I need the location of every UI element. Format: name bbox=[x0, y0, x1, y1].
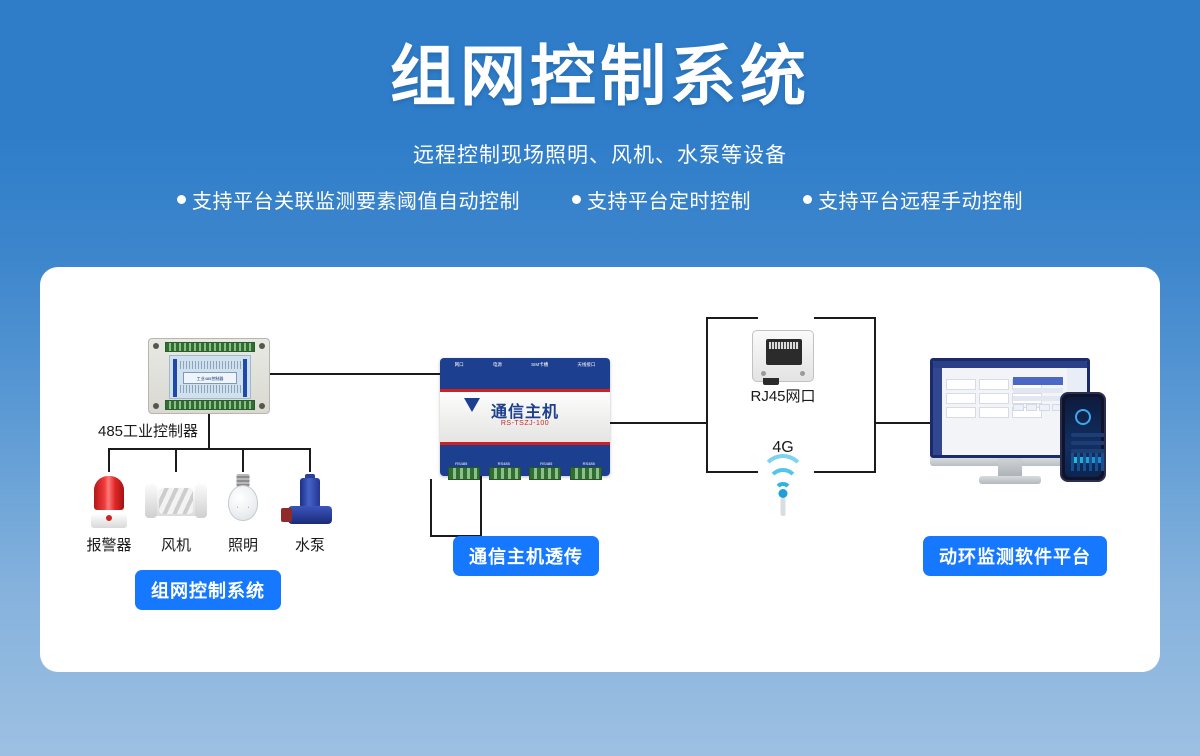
branch-to-4g-h bbox=[706, 471, 758, 473]
dashboard-card bbox=[946, 393, 976, 404]
screw-icon bbox=[153, 343, 159, 349]
phone-list-row bbox=[1071, 441, 1105, 445]
branch-left-v bbox=[706, 317, 708, 473]
feature-bullet-row: 支持平台关联监测要素阈值自动控制 支持平台定时控制 支持平台远程手动控制 bbox=[0, 185, 1200, 214]
host-terminal-ports bbox=[448, 467, 602, 480]
wifi-signal-icon bbox=[757, 458, 809, 506]
host-label-antenna: 天线接口 bbox=[577, 362, 595, 368]
485-industrial-controller-device: 工业485控制器 bbox=[148, 338, 270, 414]
fan-blades bbox=[159, 488, 193, 514]
bus-branch-fan bbox=[175, 448, 177, 472]
controller-caption: 485工业控制器 bbox=[88, 420, 208, 441]
link-host-bottom-v bbox=[430, 479, 432, 537]
rj45-screw-icon bbox=[800, 371, 805, 376]
host-top-panel: 网口 电源 SIM卡槽 天线接口 bbox=[440, 358, 610, 392]
bus-branch-alarm bbox=[108, 448, 110, 472]
field-device-light-label: 照明 bbox=[210, 534, 276, 555]
dialog-button bbox=[1013, 404, 1024, 411]
fan-icon bbox=[143, 472, 209, 530]
terminal-port bbox=[570, 467, 602, 480]
dialog-header bbox=[1013, 377, 1063, 385]
feature-bullet-3: 支持平台远程手动控制 bbox=[803, 185, 1023, 214]
4g-to-right-h bbox=[814, 471, 876, 473]
bus-branch-light bbox=[242, 448, 244, 472]
phone-chart bbox=[1071, 453, 1105, 471]
terminal-port bbox=[448, 467, 480, 480]
controller-board-label: 工业485控制器 bbox=[183, 372, 237, 384]
terminal-block-top bbox=[165, 342, 255, 352]
host-label-ethernet: 网口 bbox=[455, 362, 464, 368]
screw-icon bbox=[259, 343, 265, 349]
monitor-base bbox=[979, 476, 1041, 484]
light-bulb-icon bbox=[210, 472, 276, 530]
dashboard-topbar bbox=[933, 361, 1087, 368]
field-device-pump: 水泵 bbox=[277, 472, 343, 555]
water-pump-icon bbox=[277, 472, 343, 530]
dashboard-card bbox=[946, 407, 976, 418]
dashboard-card bbox=[946, 379, 976, 390]
rj45-pins bbox=[769, 342, 799, 349]
badge-networked-control-system: 组网控制系统 bbox=[135, 570, 281, 610]
badge-host-transparent-transmission: 通信主机透传 bbox=[453, 536, 599, 576]
dialog-field bbox=[1013, 396, 1063, 401]
branch-to-rj45-h bbox=[706, 317, 758, 319]
bullet-dot-icon bbox=[177, 195, 186, 204]
feature-bullet-1-label: 支持平台关联监测要素阈值自动控制 bbox=[192, 185, 520, 214]
rj45-tab bbox=[763, 378, 779, 385]
badge-monitoring-software-platform: 动环监测软件平台 bbox=[923, 536, 1107, 576]
alarm-dome bbox=[94, 476, 124, 510]
dialog-button bbox=[1026, 404, 1037, 411]
dashboard-card bbox=[979, 393, 1009, 404]
feature-bullet-3-label: 支持平台远程手动控制 bbox=[818, 185, 1023, 214]
link-branch-to-platform bbox=[874, 422, 938, 424]
phone-list-row bbox=[1071, 433, 1105, 437]
terminal-block-bottom bbox=[165, 400, 255, 410]
host-rs485-4: RS485 bbox=[583, 461, 595, 466]
host-top-label-row: 网口 电源 SIM卡槽 天线接口 bbox=[440, 362, 610, 368]
host-brand-name: 通信主机 bbox=[440, 398, 610, 422]
field-device-alarm: 报警器 bbox=[76, 472, 142, 555]
host-rs485-2: RS485 bbox=[498, 461, 510, 466]
bus-rail-h bbox=[108, 448, 310, 450]
mobile-phone-device bbox=[1060, 392, 1106, 482]
phone-logo-icon bbox=[1075, 409, 1091, 425]
fan-cap-right bbox=[195, 484, 207, 518]
pcb-rail-right bbox=[243, 359, 247, 397]
dialog-button-row bbox=[1013, 404, 1063, 411]
branch-right-v bbox=[874, 317, 876, 473]
page-subtitle: 远程控制现场照明、风机、水泵等设备 bbox=[0, 139, 1200, 169]
rj45-to-right-h bbox=[814, 317, 876, 319]
controller-pcb: 工业485控制器 bbox=[169, 355, 251, 399]
dashboard-dialog bbox=[1013, 377, 1063, 411]
pcb-pin-row-bottom bbox=[180, 385, 242, 393]
bus-drop-v bbox=[208, 414, 210, 449]
field-device-light: 照明 bbox=[210, 472, 276, 555]
feature-bullet-2-label: 支持平台定时控制 bbox=[587, 185, 751, 214]
feature-bullet-1: 支持平台关联监测要素阈值自动控制 bbox=[177, 185, 520, 214]
host-bottom-label-row: RS485 RS485 RS485 RS485 bbox=[440, 461, 610, 466]
field-device-fan-label: 风机 bbox=[143, 534, 209, 555]
link-host-to-branch bbox=[610, 422, 708, 424]
page-title: 组网控制系统 bbox=[0, 42, 1200, 111]
feature-bullet-2: 支持平台定时控制 bbox=[572, 185, 751, 214]
host-model-number: RS-TSZJ-100 bbox=[440, 420, 610, 427]
pump-motor bbox=[300, 478, 320, 508]
bus-branch-pump bbox=[309, 448, 311, 472]
screw-icon bbox=[153, 403, 159, 409]
field-device-alarm-label: 报警器 bbox=[76, 534, 142, 555]
rj45-port-icon bbox=[752, 330, 814, 382]
pcb-rail-left bbox=[173, 359, 177, 397]
alarm-beacon-icon bbox=[76, 472, 142, 530]
field-device-fan: 风机 bbox=[143, 472, 209, 555]
rj45-label: RJ45网口 bbox=[733, 385, 833, 406]
terminal-port bbox=[529, 467, 561, 480]
screw-icon bbox=[259, 403, 265, 409]
diagram-card: 工业485控制器 485工业控制器 报警器 风机 bbox=[40, 267, 1160, 672]
bullet-dot-icon bbox=[803, 195, 812, 204]
dialog-button bbox=[1039, 404, 1050, 411]
host-rs485-1: RS485 bbox=[455, 461, 467, 466]
antenna-pole bbox=[781, 498, 786, 516]
field-device-pump-label: 水泵 bbox=[277, 534, 343, 555]
fan-cap-left bbox=[145, 484, 157, 518]
host-rs485-3: RS485 bbox=[540, 461, 552, 466]
signal-core-dot bbox=[779, 489, 788, 498]
rj45-jack bbox=[766, 339, 802, 365]
pcb-pin-row-top bbox=[180, 361, 242, 369]
terminal-port bbox=[489, 467, 521, 480]
rj45-screw-icon bbox=[761, 371, 766, 376]
host-label-power: 电源 bbox=[493, 362, 502, 368]
pump-flange bbox=[281, 508, 292, 522]
alarm-led bbox=[106, 515, 112, 521]
communication-host-device: 网口 电源 SIM卡槽 天线接口 通信主机 RS-TSZJ-100 RS485 … bbox=[440, 358, 610, 476]
dashboard-sidebar bbox=[933, 368, 942, 455]
monitor-stand bbox=[998, 458, 1022, 476]
bullet-dot-icon bbox=[572, 195, 581, 204]
pump-casing bbox=[288, 506, 332, 524]
dialog-field bbox=[1013, 388, 1063, 393]
dashboard-card bbox=[979, 407, 1009, 418]
dashboard-card bbox=[979, 379, 1009, 390]
host-label-sim: SIM卡槽 bbox=[531, 362, 548, 368]
phone-screen bbox=[1065, 397, 1101, 477]
page-header: 组网控制系统 远程控制现场照明、风机、水泵等设备 支持平台关联监测要素阈值自动控… bbox=[0, 0, 1200, 214]
